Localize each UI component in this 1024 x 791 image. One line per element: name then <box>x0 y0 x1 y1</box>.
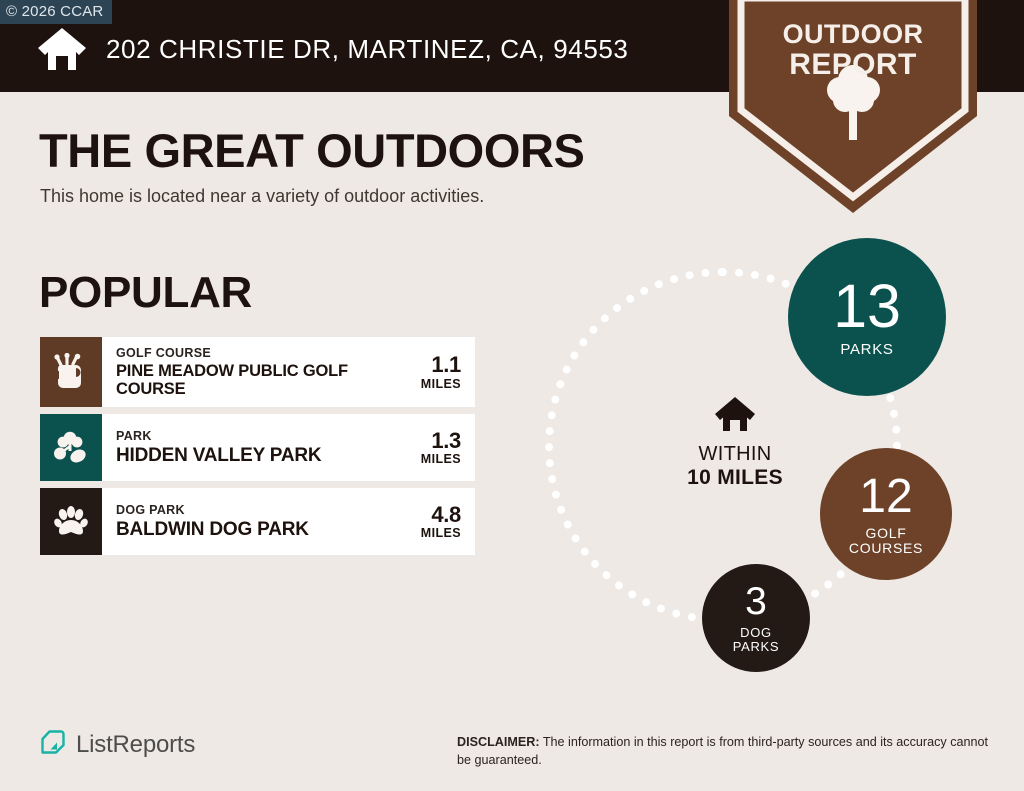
section-title-popular: POPULAR <box>39 268 252 318</box>
distance-unit: MILES <box>421 377 461 391</box>
list-item-distance: 4.8 MILES <box>373 488 475 555</box>
list-item-name: BALDWIN DOG PARK <box>116 519 367 540</box>
list-item[interactable]: PARK HIDDEN VALLEY PARK 1.3 MILES <box>40 414 475 481</box>
page-title: THE GREAT OUTDOORS <box>39 123 585 178</box>
stat-label-line1: DOG <box>740 625 772 640</box>
within-label-line1: WITHIN <box>665 443 805 466</box>
outdoor-report-badge: OUTDOOR REPORT <box>729 0 977 213</box>
distance-unit: MILES <box>421 526 461 540</box>
stat-label-line1: GOLF <box>866 525 907 541</box>
stat-circle-parks[interactable]: 13 PARKS <box>788 238 946 396</box>
list-item-distance: 1.1 MILES <box>373 337 475 407</box>
listreports-logo[interactable]: ListReports <box>39 728 195 761</box>
stat-value: 13 <box>833 276 901 337</box>
page-subtitle: This home is located near a variety of o… <box>40 186 484 207</box>
list-item-text: GOLF COURSE PINE MEADOW PUBLIC GOLF COUR… <box>102 337 373 407</box>
distance-value: 4.8 <box>431 503 461 526</box>
stat-label-line2: COURSES <box>849 540 923 556</box>
popular-list: GOLF COURSE PINE MEADOW PUBLIC GOLF COUR… <box>40 337 475 562</box>
paw-print-icon <box>40 488 102 555</box>
list-item-name: PINE MEADOW PUBLIC GOLF COURSE <box>116 362 367 398</box>
golf-bag-icon <box>40 337 102 407</box>
park-trees-icon <box>40 414 102 481</box>
stat-label: DOG PARKS <box>733 626 780 654</box>
list-item[interactable]: GOLF COURSE PINE MEADOW PUBLIC GOLF COUR… <box>40 337 475 407</box>
home-icon <box>36 26 88 72</box>
distance-value: 1.1 <box>431 353 461 376</box>
copyright-badge: © 2026 CCAR <box>0 0 112 24</box>
list-item-text: DOG PARK BALDWIN DOG PARK <box>102 488 373 555</box>
property-address: 202 CHRISTIE DR, MARTINEZ, CA, 94553 <box>106 34 629 65</box>
stat-value: 3 <box>745 582 767 621</box>
list-item-category: PARK <box>116 429 367 445</box>
list-item-distance: 1.3 MILES <box>373 414 475 481</box>
stat-label: PARKS <box>840 342 893 358</box>
list-item-category: GOLF COURSE <box>116 346 367 362</box>
stat-label-line2: PARKS <box>733 639 780 654</box>
stat-label: GOLF COURSES <box>849 526 923 556</box>
disclaimer-label: DISCLAIMER: <box>457 735 540 749</box>
amenities-diagram: 13 PARKS 12 GOLF COURSES 3 DOG PARKS WIT… <box>535 230 1005 680</box>
stat-value: 12 <box>859 473 912 521</box>
listreports-logo-text: ListReports <box>76 731 195 759</box>
within-label-line2: 10 MILES <box>665 466 805 490</box>
diagram-center: WITHIN 10 MILES <box>665 395 805 490</box>
list-item-name: HIDDEN VALLEY PARK <box>116 445 367 466</box>
list-item-text: PARK HIDDEN VALLEY PARK <box>102 414 373 481</box>
distance-unit: MILES <box>421 452 461 466</box>
stat-circle-dog-parks[interactable]: 3 DOG PARKS <box>702 564 810 672</box>
listreports-house-tag-icon <box>39 728 67 761</box>
home-icon <box>665 395 805 438</box>
disclaimer: DISCLAIMER: The information in this repo… <box>457 733 992 770</box>
stat-circle-golf-courses[interactable]: 12 GOLF COURSES <box>820 448 952 580</box>
list-item-category: DOG PARK <box>116 503 367 519</box>
distance-value: 1.3 <box>431 429 461 452</box>
list-item[interactable]: DOG PARK BALDWIN DOG PARK 4.8 MILES <box>40 488 475 555</box>
